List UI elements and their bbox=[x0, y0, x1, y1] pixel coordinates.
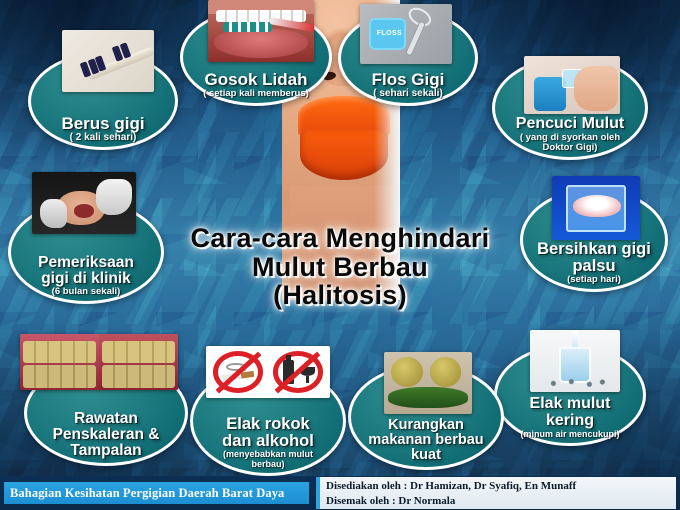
tip-label: Flos Gigi bbox=[369, 71, 448, 89]
footer-organisation-text: Bahagian Kesihatan Pergigian Daerah Bara… bbox=[10, 486, 284, 501]
strong-smelling-food-image bbox=[384, 352, 472, 414]
tip-label-line-1: Bersihkan gigi bbox=[534, 241, 654, 258]
tip-label-line-2: kering bbox=[543, 413, 597, 430]
tip-label-line-3: Tampalan bbox=[67, 443, 144, 459]
footer-prepared-by: Disediakan oleh : Dr Hamizan, Dr Syafiq,… bbox=[326, 479, 676, 494]
tip-sublabel: (6 bulan sekali) bbox=[49, 287, 124, 297]
tip-label-line-1: Kurangkan bbox=[385, 418, 467, 433]
title-line-2: Mulut Berbau bbox=[108, 253, 572, 282]
photo-brush-head bbox=[223, 22, 272, 32]
footer-credits-box: Disediakan oleh : Dr Hamizan, Dr Syafiq,… bbox=[316, 477, 676, 509]
title-line-1: Cara-cara Menghindari bbox=[108, 224, 572, 253]
dental-exam-image bbox=[32, 172, 136, 234]
tip-label-line-1: Pemeriksaan bbox=[35, 255, 137, 271]
hand bbox=[574, 66, 618, 110]
durian-petai-photo bbox=[384, 352, 472, 414]
denture-teeth bbox=[573, 195, 621, 217]
footer-reviewed-by: Disemak oleh : Dr Normala bbox=[326, 494, 676, 509]
mouthwash-photo bbox=[524, 56, 620, 114]
mouthwash-image bbox=[524, 56, 620, 114]
tip-label-line-1: Elak rokok bbox=[223, 416, 312, 433]
toothbrush-photo bbox=[62, 30, 154, 92]
dentist-glove-right bbox=[96, 179, 131, 215]
title-line-3: (Halitosis) bbox=[108, 281, 572, 310]
tip-sublabel: ( sehari sekali) bbox=[370, 89, 445, 100]
tip-label-line-2: Penskaleran & bbox=[50, 427, 163, 443]
dentist-glove-left bbox=[40, 199, 67, 228]
prohibition-signs-image bbox=[206, 346, 330, 398]
footer-organisation-bar: Bahagian Kesihatan Pergigian Daerah Bara… bbox=[4, 482, 309, 504]
tongue-brushing-photo bbox=[208, 0, 314, 62]
water-glass-image bbox=[530, 330, 620, 392]
dental-examination-photo bbox=[32, 172, 136, 234]
footer: Bahagian Kesihatan Pergigian Daerah Bara… bbox=[0, 476, 680, 510]
tip-sublabel-line-2: berbau) bbox=[248, 460, 287, 469]
tip-label: Gosok Lidah bbox=[202, 71, 311, 89]
durian-left bbox=[391, 357, 423, 387]
patient-mouth bbox=[74, 204, 95, 218]
wine-glass-stem bbox=[306, 376, 308, 383]
tip-label-line-2: palsu bbox=[569, 258, 618, 275]
floss-pick bbox=[404, 20, 426, 57]
glass-of-water-photo bbox=[530, 330, 620, 392]
teeth-after bbox=[99, 334, 178, 390]
tip-label: Berus gigi bbox=[58, 115, 147, 133]
teeth-row-lower bbox=[23, 365, 96, 387]
teeth-row-upper bbox=[102, 341, 175, 363]
tip-sublabel-line-2: Doktor Gigi) bbox=[540, 143, 601, 153]
tip-sublabel: (minum air mencukupi) bbox=[517, 430, 622, 439]
tip-label-line-2: makanan berbau bbox=[365, 433, 486, 448]
tip-label-line-1: Rawatan bbox=[71, 411, 141, 427]
teeth-row-lower bbox=[102, 365, 175, 387]
floss-box-label: FLOSS bbox=[373, 30, 406, 37]
mouthwash-bottle bbox=[534, 77, 567, 111]
petai-beans bbox=[388, 387, 469, 408]
water-splash bbox=[539, 378, 611, 387]
denture-image bbox=[552, 176, 640, 240]
tip-label-line-2: gigi di klinik bbox=[38, 271, 134, 287]
photo-tongue bbox=[214, 29, 307, 59]
no-smoking-no-alcohol-photo bbox=[206, 346, 330, 398]
page-title: Cara-cara Menghindari Mulut Berbau (Hali… bbox=[108, 224, 572, 310]
toothbrush-image bbox=[62, 30, 154, 92]
dental-floss-photo: FLOSS bbox=[360, 4, 452, 64]
tip-label-line-2: dan alkohol bbox=[219, 433, 317, 450]
tip-label-line-1: Elak mulut bbox=[527, 396, 614, 413]
dental-floss-image: FLOSS bbox=[360, 4, 452, 64]
infographic-poster: Cara-cara Menghindari Mulut Berbau (Hali… bbox=[0, 0, 680, 510]
denture-in-glass-photo bbox=[552, 176, 640, 240]
tongue-brushing-image bbox=[208, 0, 314, 62]
teeth-before bbox=[20, 334, 99, 390]
tip-sublabel: ( setiap kali memberus) bbox=[200, 89, 312, 99]
tip-label-line-3: kuat bbox=[408, 448, 444, 463]
teeth-row-upper bbox=[23, 341, 96, 363]
stained-teeth-image bbox=[20, 334, 178, 390]
durian-right bbox=[430, 357, 462, 387]
tip-sublabel: (setiap hari) bbox=[564, 275, 624, 285]
tip-label: Pencuci Mulut bbox=[513, 116, 627, 133]
stained-teeth-photo bbox=[20, 334, 178, 390]
tip-sublabel: ( 2 kali sehari) bbox=[67, 133, 140, 144]
